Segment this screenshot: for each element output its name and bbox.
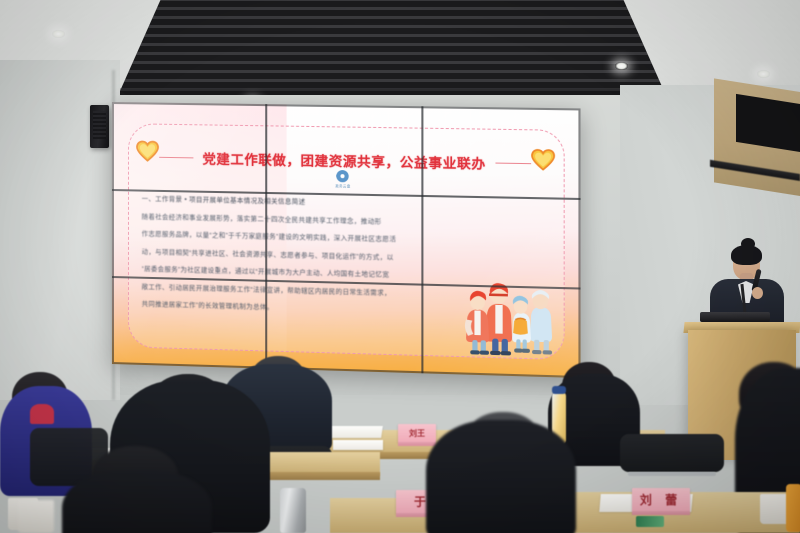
audience-torso bbox=[426, 420, 576, 533]
video-wall-seam-v2 bbox=[421, 106, 423, 373]
papers-stack-back-2 bbox=[333, 440, 383, 450]
downlight-4 bbox=[615, 62, 628, 70]
nameplate-text: 刘 蕾 bbox=[640, 494, 682, 506]
audience-collar bbox=[30, 404, 54, 424]
title-rule-left bbox=[159, 157, 193, 159]
left-wall-speaker bbox=[90, 105, 109, 148]
conference-room-photo: 党建工作联做，团建资源共享，公益事业联办 政务云盘 一、工作背景 • 项目开展单… bbox=[0, 0, 800, 533]
podium-microphone-base bbox=[700, 312, 770, 322]
nameplate-text: 于 bbox=[414, 496, 426, 508]
speaker-grill-icon bbox=[93, 111, 106, 139]
chair-right-1 bbox=[620, 434, 724, 472]
nameplate-text: 刘王 bbox=[409, 430, 425, 438]
presentation-slide: 党建工作联做，团建资源共享，公益事业联办 政务云盘 一、工作背景 • 项目开展单… bbox=[112, 102, 581, 378]
downlight-1 bbox=[52, 30, 65, 38]
presenter-hand bbox=[752, 287, 763, 299]
water-bottle-right bbox=[786, 484, 800, 532]
audience-torso bbox=[62, 470, 212, 533]
papers-stack-back bbox=[329, 426, 383, 438]
downlight-5 bbox=[757, 70, 770, 78]
watermark-logo-icon: 政务云盘 bbox=[335, 170, 350, 189]
right-wall-dark-inset bbox=[736, 94, 800, 152]
heart-icon-right bbox=[531, 149, 555, 171]
thermos-flask bbox=[280, 488, 306, 533]
chair-leg-right-1 bbox=[628, 472, 716, 476]
heart-icon-left bbox=[136, 140, 159, 161]
video-wall-display[interactable]: 党建工作联做，团建资源共享，公益事业联办 政务云盘 一、工作背景 • 项目开展单… bbox=[112, 102, 581, 378]
audience-person-foreground-center bbox=[426, 420, 576, 533]
audience-person-foreground-left bbox=[62, 470, 212, 533]
presenter-hair bbox=[731, 245, 762, 265]
water-bottle-cap-icon bbox=[552, 386, 566, 394]
watermark-ring-icon bbox=[337, 170, 349, 182]
paper-cup-front bbox=[18, 500, 54, 533]
title-rule-right bbox=[495, 162, 531, 164]
green-object bbox=[636, 516, 664, 527]
video-wall-seam-v1 bbox=[265, 104, 267, 369]
ceiling-slat-panel bbox=[92, 0, 692, 100]
watermark-label: 政务云盘 bbox=[335, 183, 350, 188]
nameplate-fold bbox=[632, 511, 690, 515]
nameplate-liu-lei[interactable]: 刘 蕾 bbox=[632, 488, 690, 512]
